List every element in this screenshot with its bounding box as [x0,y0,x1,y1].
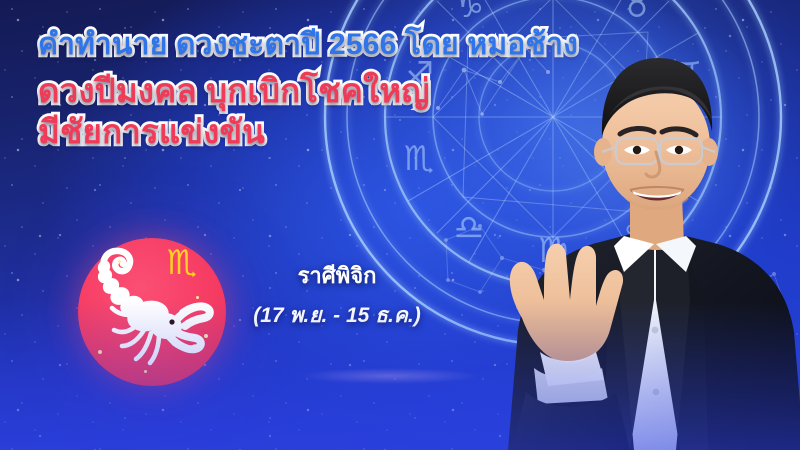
svg-text:♑: ♑ [454,0,484,26]
sign-caption: ราศีพิจิก (17 พ.ย. - 15 ธ.ค.) [232,258,442,332]
headline-line-2: ดวงปีมงคล บุกเบิกโชคใหญ่ [38,74,568,108]
light-streak [300,368,480,384]
sparkle [144,370,147,373]
sparkle [118,260,121,263]
astrologer-portrait [504,0,800,450]
sparkle [204,334,208,338]
svg-text:♎: ♎ [454,208,484,248]
sparkle [98,350,102,354]
sparkle [196,296,199,299]
sign-name: ราศีพิจิก [232,258,442,293]
horoscope-banner: ♈ ♉ ♊ ♋ ♌ ♍ ♎ ♏ ♐ ♑ [0,0,800,450]
headline-line-3: มีชัยการแข่งขัน [38,115,568,149]
zodiac-badge: ♏ [78,238,226,386]
scorpio-symbol: ♏ [167,243,197,283]
headline-block: คำทำนาย ดวงชะตาปี 2566 โดย หมอช้าง ดวงปี… [38,30,568,149]
sign-date-range: (17 พ.ย. - 15 ธ.ค.) [232,299,442,332]
headline-line-1: คำทำนาย ดวงชะตาปี 2566 โดย หมอช้าง [38,30,568,61]
